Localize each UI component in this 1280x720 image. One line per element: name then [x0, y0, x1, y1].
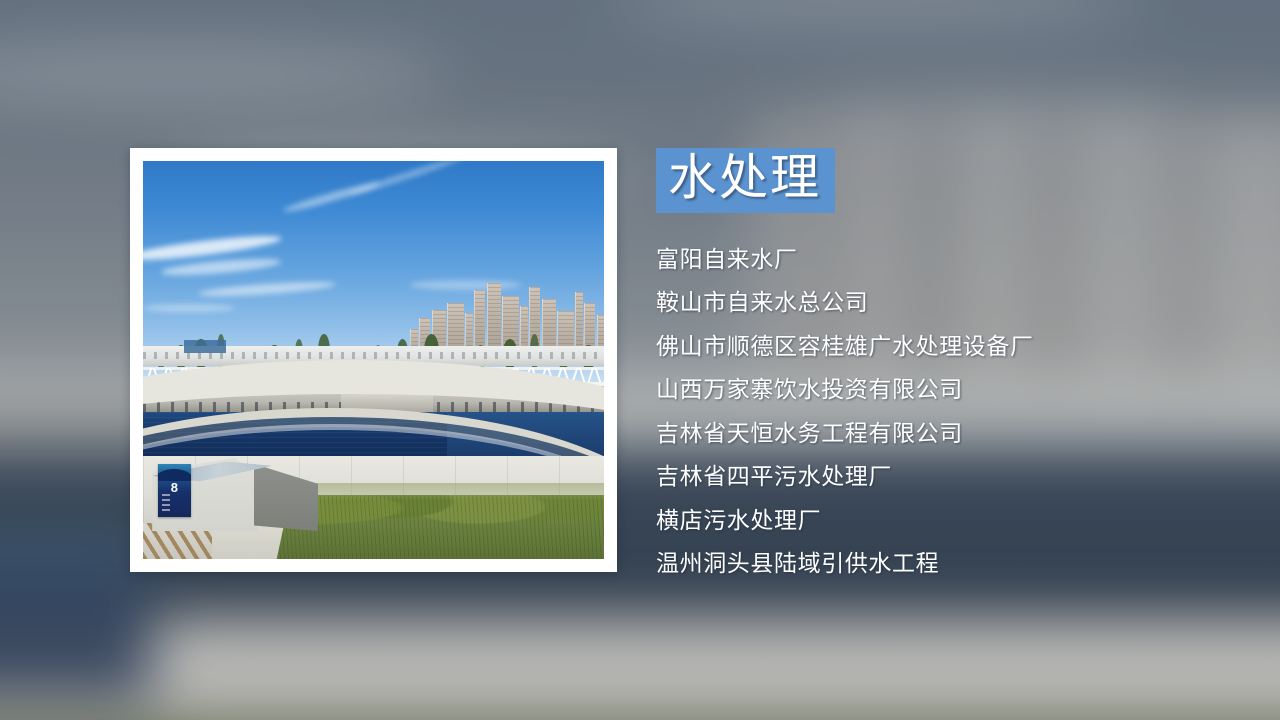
content-panel: 水处理 富阳自来水厂鞍山市自来水总公司佛山市顺德区容桂雄广水处理设备厂山西万家寨…	[656, 148, 1256, 597]
photo-info-sign-text	[162, 494, 169, 512]
photo-image: 8	[143, 161, 604, 559]
client-list-item: 吉林省天恒水务工程有限公司	[656, 423, 1256, 446]
client-list-item: 吉林省四平污水处理厂	[656, 466, 1256, 489]
client-list-item: 佛山市顺德区容桂雄广水处理设备厂	[656, 336, 1256, 359]
photo-info-sign-wave	[158, 469, 191, 481]
photo-grass	[272, 495, 604, 559]
client-list-item: 温州洞头县陆域引供水工程	[656, 553, 1256, 576]
client-list-item: 鞍山市自来水总公司	[656, 292, 1256, 315]
photo-grass-edge	[272, 483, 604, 499]
client-list-item: 横店污水处理厂	[656, 510, 1256, 533]
slide-canvas: 8 水处理 富阳自来水厂鞍山市自来水总公司佛山市顺德区容桂雄广水处理设备厂山西万…	[0, 0, 1280, 720]
title-highlight-box: 水处理	[656, 148, 835, 213]
photo-info-sign-number: 8	[158, 481, 191, 494]
client-list-item: 富阳自来水厂	[656, 249, 1256, 272]
client-list: 富阳自来水厂鞍山市自来水总公司佛山市顺德区容桂雄广水处理设备厂山西万家寨饮水投资…	[656, 249, 1256, 577]
page-title: 水处理	[668, 149, 821, 206]
client-list-item: 山西万家寨饮水投资有限公司	[656, 379, 1256, 402]
photo-frame: 8	[130, 148, 617, 572]
photo-info-sign: 8	[158, 464, 191, 518]
photo-blue-building	[184, 340, 225, 353]
